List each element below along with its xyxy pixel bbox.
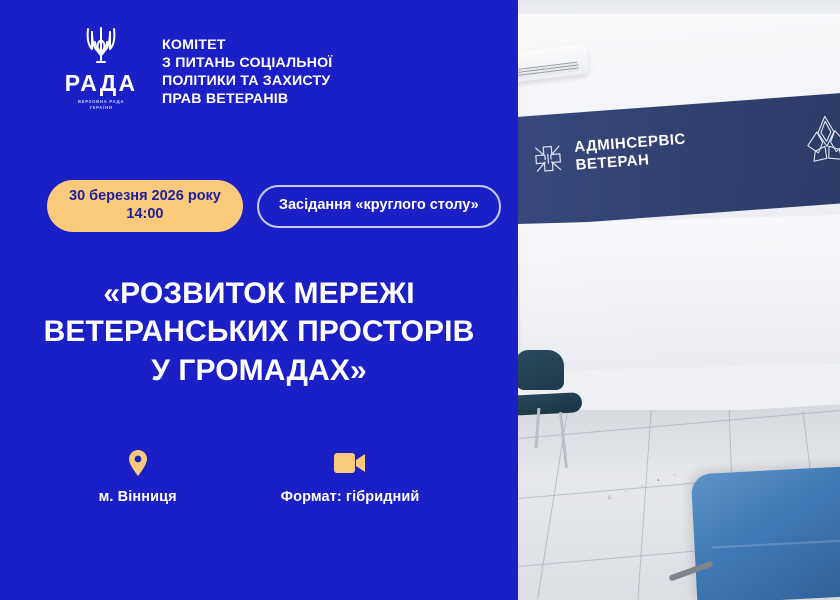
verkhovna-rada-logo: РАДА ВЕРХОВНА РАДА УКРАЇНИ bbox=[58, 18, 144, 112]
format-label: Формат: гібридний bbox=[281, 489, 420, 505]
poster-header: РАДА ВЕРХОВНА РАДА УКРАЇНИ КОМІТЕТ З ПИТ… bbox=[58, 18, 332, 112]
blue-chair bbox=[691, 466, 840, 600]
stylized-leaf-logo-icon bbox=[797, 110, 840, 176]
badge-row: 30 березня 2026 року 14:00 Засідання «кр… bbox=[47, 180, 501, 232]
format-meta: Формат: гібридний bbox=[281, 448, 420, 505]
location-meta: м. Вінниця bbox=[99, 448, 177, 505]
event-type-badge: Засідання «круглого столу» bbox=[257, 185, 501, 228]
meta-icon-wrap bbox=[128, 448, 148, 478]
chair-back bbox=[518, 350, 564, 390]
committee-title: КОМІТЕТ З ПИТАНЬ СОЦІАЛЬНОЇ ПОЛІТИКИ ТА … bbox=[162, 18, 332, 108]
chair-seat bbox=[518, 392, 582, 416]
location-label: м. Вінниця bbox=[99, 489, 177, 505]
event-poster: РАДА ВЕРХОВНА РАДА УКРАЇНИ КОМІТЕТ З ПИТ… bbox=[0, 0, 840, 600]
video-camera-icon bbox=[334, 452, 366, 474]
meta-row: м. Вінниця Формат: гібридний bbox=[0, 448, 518, 505]
wall-sign-content: АДМІНСЕРВІС ВЕТЕРАН bbox=[532, 118, 840, 177]
ukrainian-trident-icon bbox=[81, 22, 121, 68]
venue-photo: АДМІНСЕРВІС ВЕТЕРАН bbox=[518, 0, 840, 600]
wall-sign-text: АДМІНСЕРВІС ВЕТЕРАН bbox=[574, 131, 688, 174]
page-title: «РОЗВИТОК МЕРЕЖІ ВЕТЕРАНСЬКИХ ПРОСТОРІВ … bbox=[0, 275, 518, 390]
photo-lower-wall bbox=[518, 215, 840, 372]
location-pin-icon bbox=[128, 449, 148, 477]
logo-wordmark: РАДА bbox=[65, 72, 138, 95]
logo-subtitle: ВЕРХОВНА РАДА УКРАЇНИ bbox=[78, 99, 124, 112]
veteran-service-cross-emblem-icon bbox=[532, 142, 564, 174]
date-time-badge: 30 березня 2026 року 14:00 bbox=[47, 180, 243, 232]
left-info-panel: РАДА ВЕРХОВНА РАДА УКРАЇНИ КОМІТЕТ З ПИТ… bbox=[0, 0, 518, 600]
meta-icon-wrap bbox=[334, 448, 366, 478]
